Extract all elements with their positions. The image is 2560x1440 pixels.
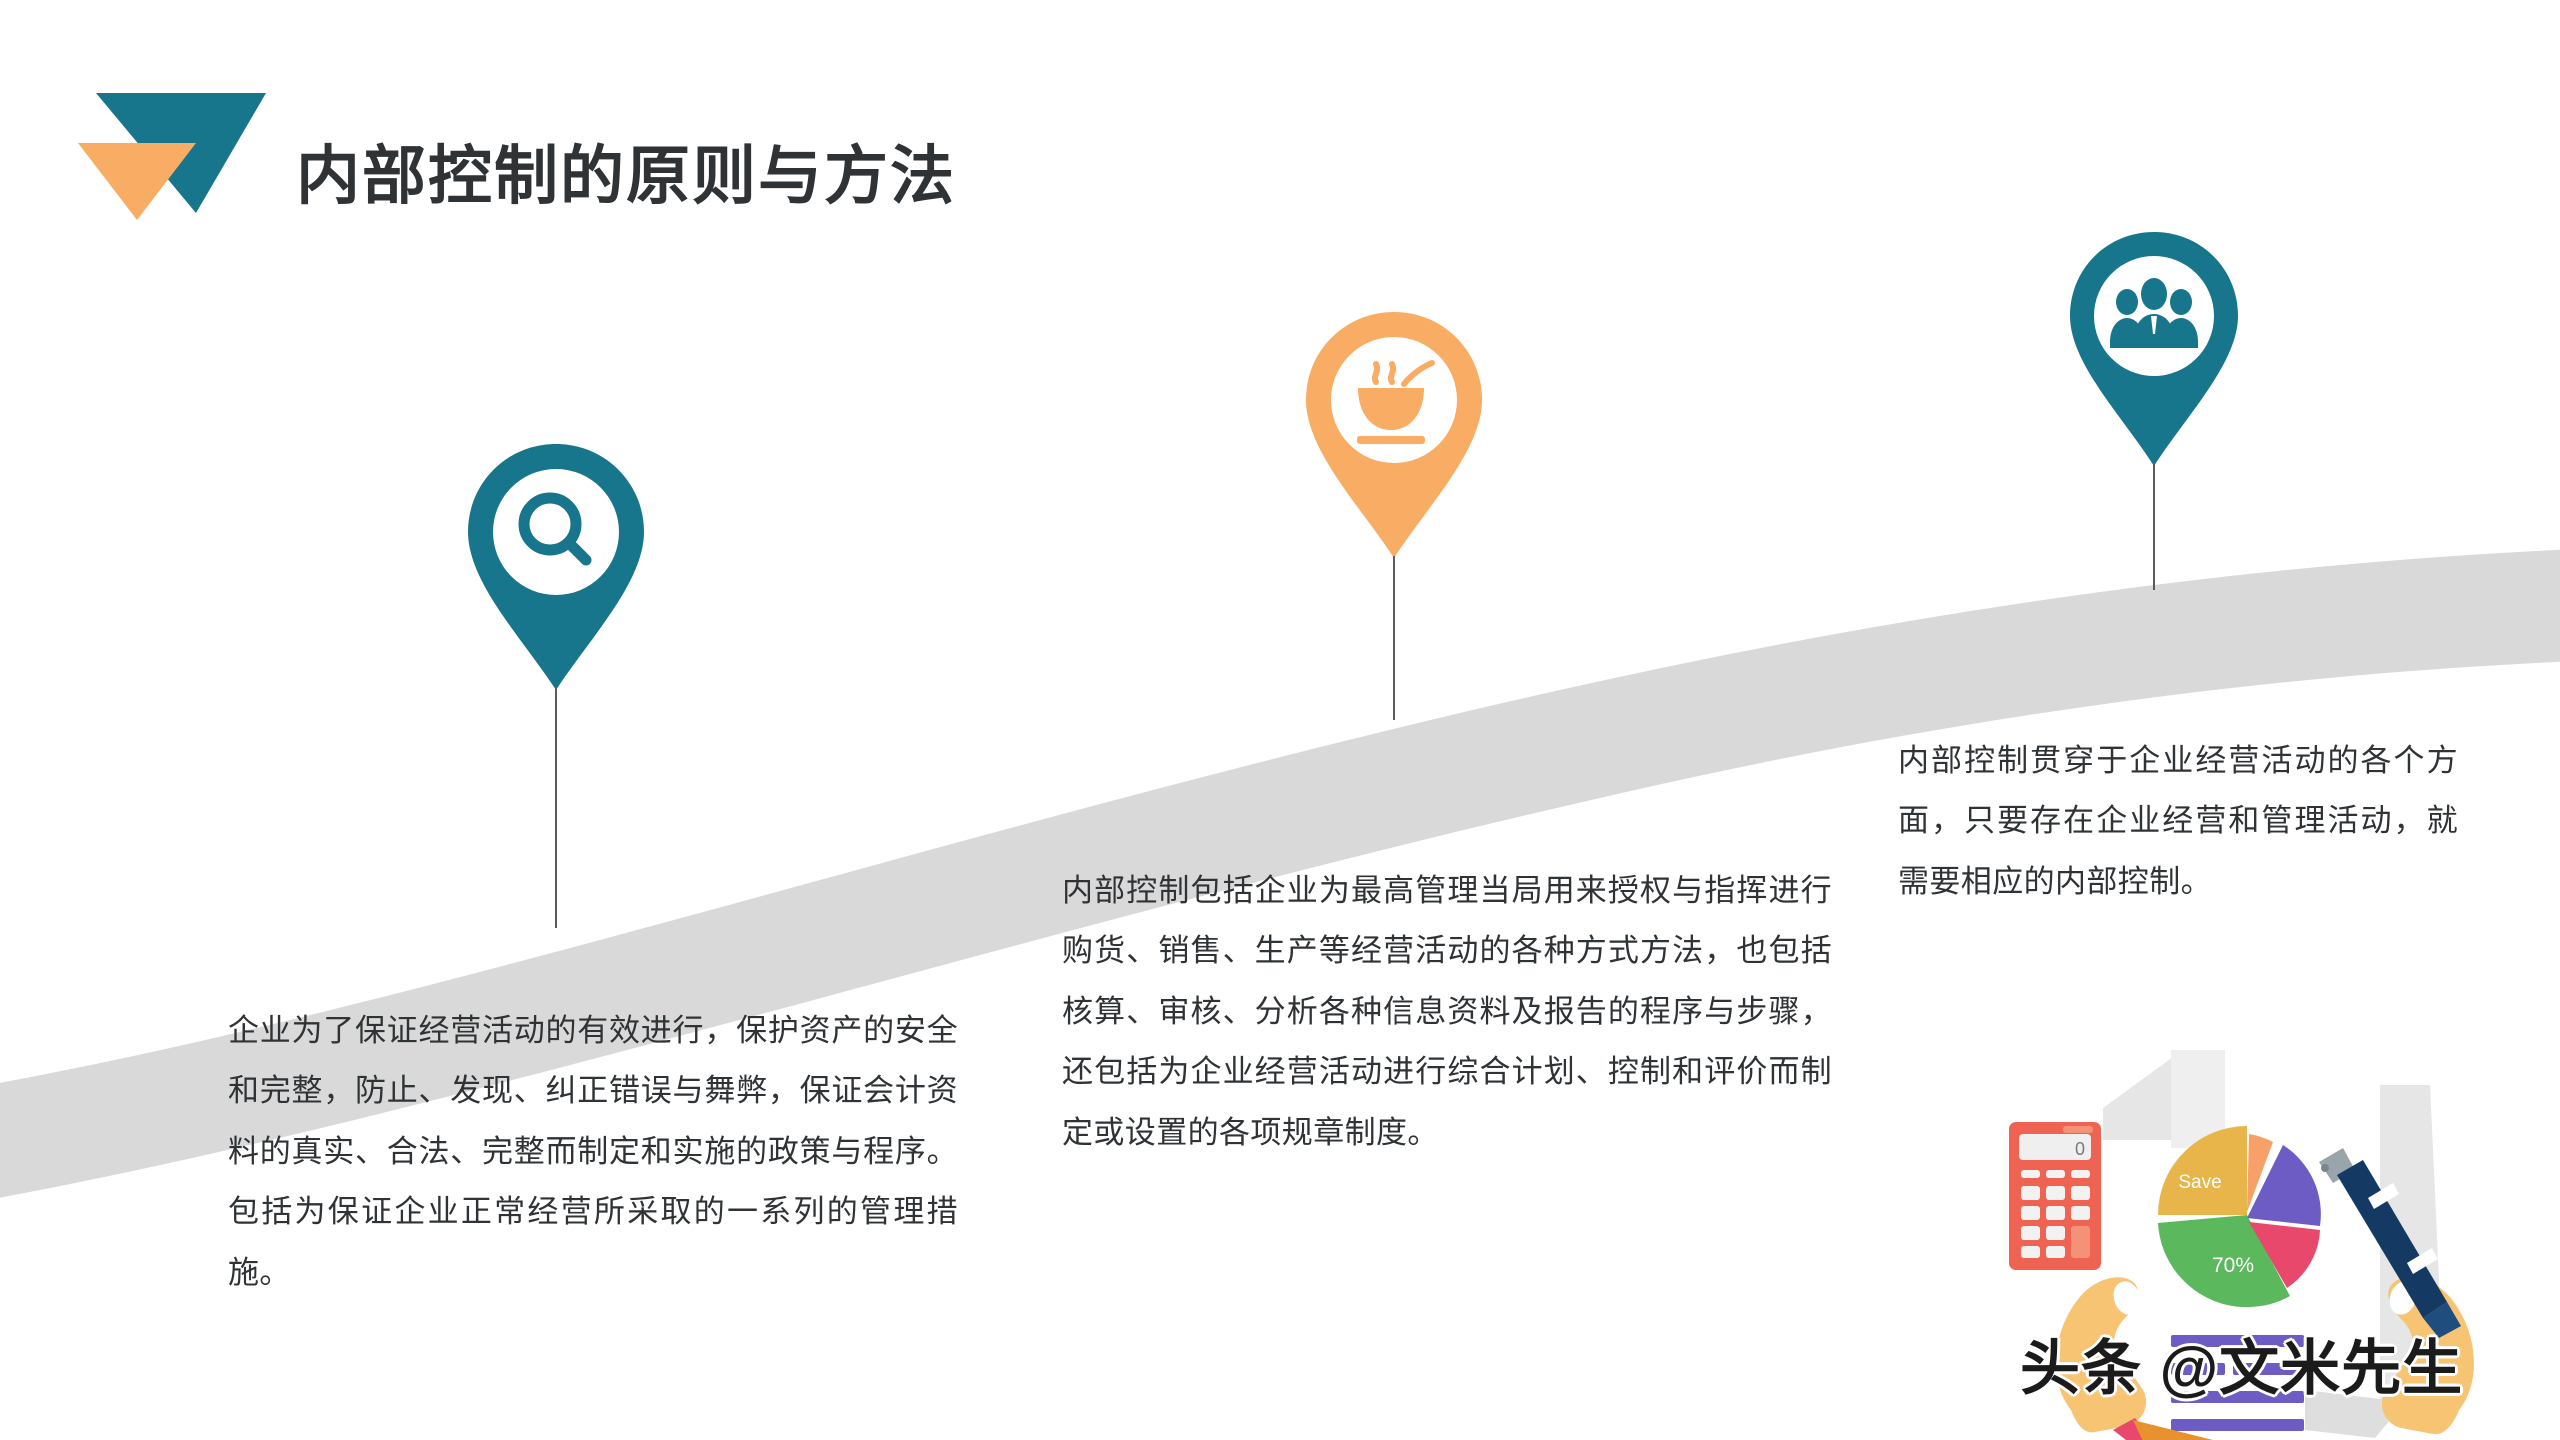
marker-description-2: 内部控制包括企业为最高管理当局用来授权与指挥进行购货、销售、生产等经营活动的各种… [1062,861,1832,1163]
pin-stem-3 [2153,463,2155,590]
watermark-text: 头条 @文米先生 [2020,1320,2463,1407]
pin-shape-teal [462,442,650,692]
pie-chart: Save 70% [2158,1126,2321,1307]
slide-canvas: 内部控制的原则与方法 [0,0,2560,1440]
svg-text:0: 0 [2075,1139,2085,1159]
pin-stem-2 [1393,556,1395,720]
marker-pin-2[interactable] [1300,310,1488,560]
calculator-icon: 0 [2009,1122,2101,1270]
pie-label-save: Save [2178,1172,2221,1193]
pin-shape-orange [1300,310,1488,560]
page-title: 内部控制的原则与方法 [296,141,956,211]
marker-pin-3[interactable] [2065,230,2243,468]
slide-header: 内部控制的原则与方法 [0,0,2560,230]
marker-pin-1[interactable] [462,442,650,692]
pie-label-70: 70% [2212,1254,2254,1277]
pin-stem-1 [555,688,557,928]
marker-description-3: 内部控制贯穿于企业经营活动的各个方面，只要存在企业经营和管理活动，就需要相应的内… [1898,731,2458,912]
pin-shape-teal-2 [2065,230,2243,468]
marker-description-1: 企业为了保证经营活动的有效进行，保护资产的安全和完整，防止、发现、纠正错误与舞弊… [228,1001,958,1303]
double-triangle-logo [78,85,268,220]
